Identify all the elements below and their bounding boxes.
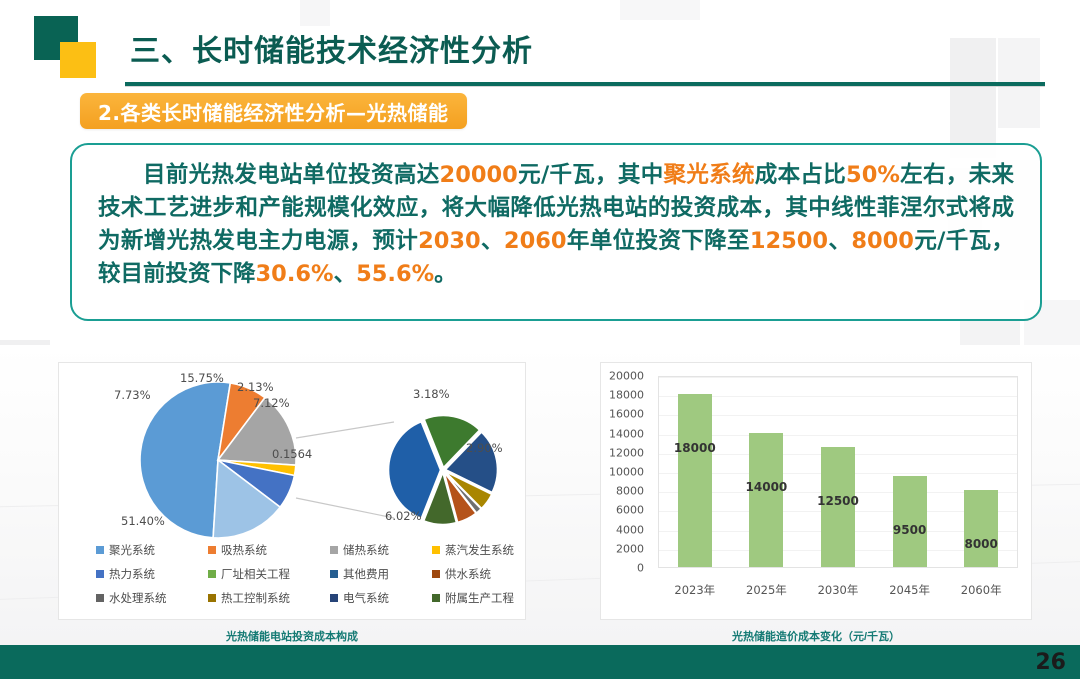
legend-label: 吸热系统 — [221, 542, 267, 558]
legend-swatch-icon — [96, 570, 104, 578]
bar-ytick-2000: 2000 — [600, 542, 644, 555]
legend-item-10: 电气系统 — [330, 590, 432, 606]
bar-xlabel-2030年: 2030年 — [818, 582, 859, 598]
legend-item-6: 其他费用 — [330, 566, 432, 582]
bar-ytick-12000: 12000 — [600, 446, 644, 459]
bar-chart-graphic: 2000018000160001400012000100008000600040… — [600, 362, 1032, 620]
footer-bar — [0, 645, 1080, 679]
bar-gridline — [659, 415, 1017, 416]
bar-gridline — [659, 377, 1017, 378]
bar-ytick-0: 0 — [600, 562, 644, 575]
legend-swatch-icon — [96, 546, 104, 554]
pie-label-15-75: 15.75% — [180, 371, 224, 385]
summary-segment-18: 。 — [434, 261, 457, 287]
legend-item-2: 储热系统 — [330, 542, 432, 558]
legend-swatch-icon — [208, 570, 216, 578]
summary-segment-12: 、 — [828, 228, 851, 254]
page-title: 三、长时储能技术经济性分析 — [130, 26, 533, 70]
logo-yellow-square — [60, 42, 96, 78]
legend-item-1: 吸热系统 — [208, 542, 330, 558]
legend-swatch-icon — [208, 594, 216, 602]
legend-label: 其他费用 — [343, 566, 389, 582]
bar-ytick-16000: 16000 — [600, 408, 644, 421]
title-underline-shadow — [125, 86, 1045, 87]
bar-ytick-18000: 18000 — [600, 389, 644, 402]
pie-label-7-12: 7.12% — [253, 396, 290, 410]
legend-swatch-icon — [96, 594, 104, 602]
legend-item-8: 水处理系统 — [96, 590, 208, 606]
pie-connector-lines — [296, 422, 394, 518]
bar-2025年 — [749, 433, 783, 567]
legend-swatch-icon — [330, 570, 338, 578]
legend-label: 水处理系统 — [109, 590, 167, 606]
pie-label-3-18: 3.18% — [413, 387, 450, 401]
bar-ytick-10000: 10000 — [600, 466, 644, 479]
summary-segment-2: 元/千瓦，其中 — [518, 162, 664, 188]
legend-swatch-icon — [208, 546, 216, 554]
sub-section-banner: 2.各类长时储能经济性分析—光热储能 — [80, 93, 467, 129]
summary-textbox: 目前光热发电站单位投资高达20000元/千瓦，其中聚光系统成本占比50%左右，未… — [70, 143, 1042, 321]
bar-chart-caption: 光热储能造价成本变化（元/千瓦） — [600, 628, 1032, 644]
summary-segment-10: 年单位投资下降至 — [567, 228, 750, 254]
bar-gridline — [659, 396, 1017, 397]
bar-ytick-4000: 4000 — [600, 523, 644, 536]
bar-2045年 — [893, 476, 927, 567]
summary-segment-9: 2060 — [504, 228, 567, 254]
summary-segment-15: 30.6% — [256, 261, 334, 287]
legend-label: 厂址相关工程 — [221, 566, 290, 582]
legend-swatch-icon — [330, 594, 338, 602]
legend-item-11: 附属生产工程 — [432, 590, 550, 606]
bar-xlabel-2045年: 2045年 — [889, 582, 930, 598]
bar-2023年 — [678, 394, 712, 567]
summary-segment-16: 、 — [334, 261, 357, 287]
bar-ytick-6000: 6000 — [600, 504, 644, 517]
legend-label: 热工控制系统 — [221, 590, 290, 606]
summary-segment-17: 55.6% — [356, 261, 434, 287]
pie-label-0-1564: 0.1564 — [272, 447, 312, 461]
pie-chart-caption: 光热储能电站投资成本构成 — [58, 628, 526, 644]
summary-segment-4: 成本占比 — [755, 162, 846, 188]
bar-ytick-8000: 8000 — [600, 485, 644, 498]
summary-segment-7: 2030 — [418, 228, 481, 254]
legend-label: 蒸汽发生系统 — [445, 542, 514, 558]
summary-segment-8: 、 — [481, 228, 504, 254]
bar-value-2025年: 14000 — [746, 480, 788, 494]
bar-value-2023年: 18000 — [674, 441, 716, 455]
legend-item-0: 聚光系统 — [96, 542, 208, 558]
pie-label-6-02: 6.02% — [385, 509, 422, 523]
pie-label-2-13: 2.13% — [237, 380, 274, 394]
summary-segment-1: 20000 — [440, 162, 518, 188]
legend-swatch-icon — [432, 594, 440, 602]
legend-item-4: 热力系统 — [96, 566, 208, 582]
legend-swatch-icon — [432, 570, 440, 578]
legend-swatch-icon — [330, 546, 338, 554]
legend-swatch-icon — [432, 546, 440, 554]
summary-segment-13: 8000 — [851, 228, 914, 254]
bar-xlabel-2023年: 2023年 — [674, 582, 715, 598]
bar-ytick-20000: 20000 — [600, 370, 644, 383]
legend-label: 供水系统 — [445, 566, 491, 582]
page-number: 26 — [1035, 650, 1066, 675]
pie-legend: 聚光系统吸热系统储热系统蒸汽发生系统热力系统厂址相关工程其他费用供水系统水处理系… — [96, 542, 516, 606]
summary-segment-11: 12500 — [750, 228, 828, 254]
legend-label: 热力系统 — [109, 566, 155, 582]
legend-item-3: 蒸汽发生系统 — [432, 542, 550, 558]
legend-item-9: 热工控制系统 — [208, 590, 330, 606]
pie-label-2-90: 2.90% — [466, 441, 503, 455]
bar-gridline — [659, 435, 1017, 436]
bar-value-2060年: 8000 — [964, 537, 997, 551]
bar-value-2030年: 12500 — [817, 494, 859, 508]
bar-value-2045年: 9500 — [893, 523, 926, 537]
legend-label: 储热系统 — [343, 542, 389, 558]
company-logo — [34, 16, 96, 78]
bar-xlabel-2060年: 2060年 — [961, 582, 1002, 598]
bar-xlabel-2025年: 2025年 — [746, 582, 787, 598]
summary-segment-3: 聚光系统 — [664, 162, 755, 188]
bar-2060年 — [964, 490, 998, 567]
legend-label: 附属生产工程 — [445, 590, 514, 606]
legend-item-5: 厂址相关工程 — [208, 566, 330, 582]
legend-label: 聚光系统 — [109, 542, 155, 558]
legend-label: 电气系统 — [343, 590, 389, 606]
bar-ytick-14000: 14000 — [600, 427, 644, 440]
slide-root: 三、长时储能技术经济性分析 2.各类长时储能经济性分析—光热储能 目前光热发电站… — [0, 0, 1080, 679]
summary-segment-5: 50% — [846, 162, 900, 188]
summary-paragraph: 目前光热发电站单位投资高达20000元/千瓦，其中聚光系统成本占比50%左右，未… — [98, 159, 1014, 291]
pie-label-51-40: 51.40% — [121, 514, 165, 528]
pie-label-7-73: 7.73% — [114, 388, 151, 402]
summary-segment-0: 目前光热发电站单位投资高达 — [143, 162, 440, 188]
legend-item-7: 供水系统 — [432, 566, 550, 582]
